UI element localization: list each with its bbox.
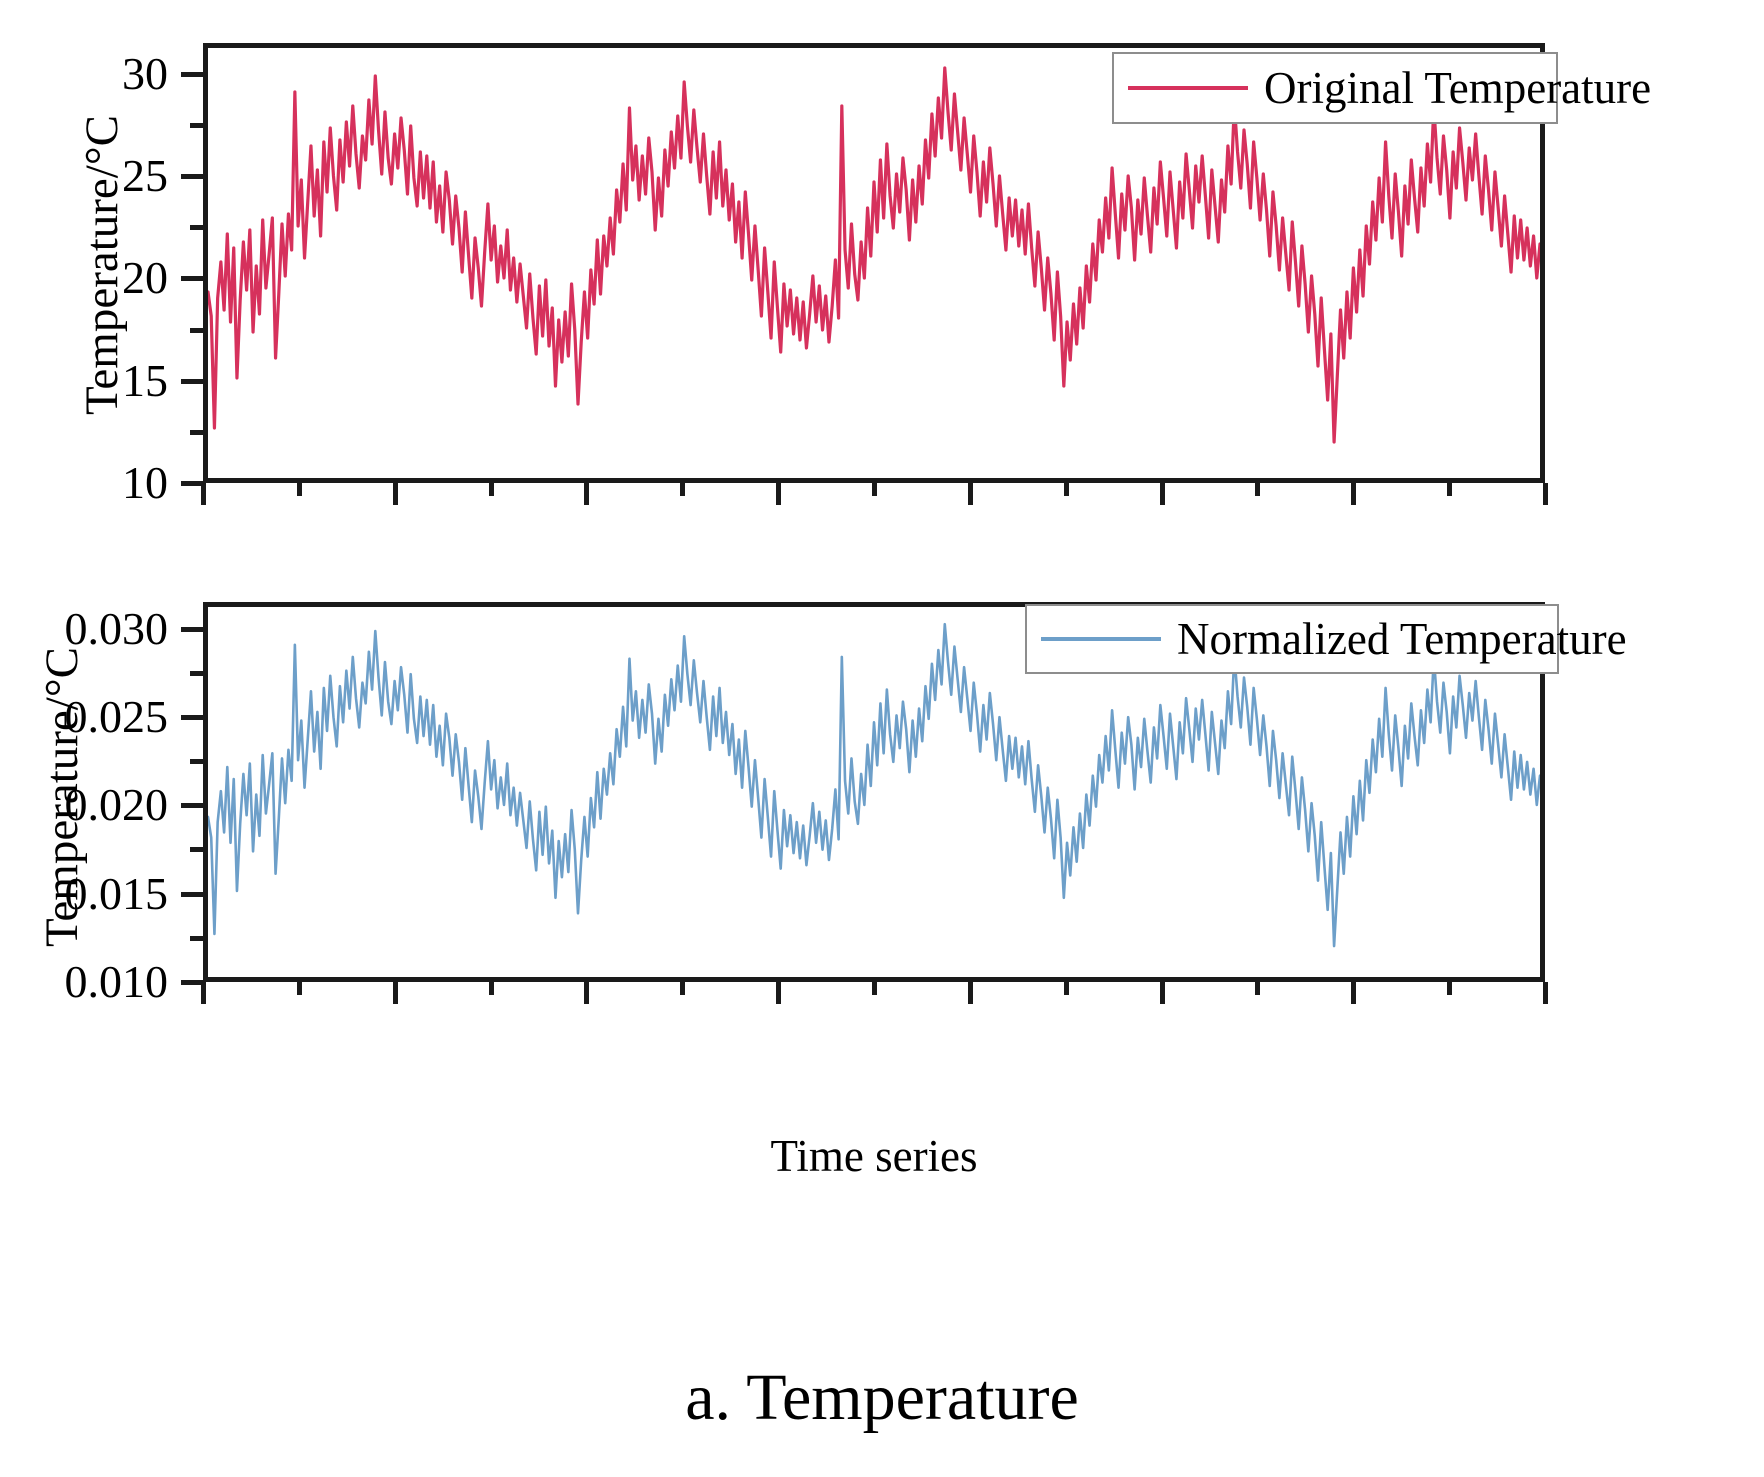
- y-tick-label-normalized-1: 0.025: [0, 694, 168, 740]
- x-tick-minor-normalized-2: [680, 982, 685, 995]
- x-tick-major-original-0: [201, 483, 206, 505]
- x-tick-major-original-2: [584, 483, 589, 505]
- y-tick-label-normalized-0: 0.030: [0, 606, 168, 652]
- y-tick-minor-original-1: [190, 225, 203, 230]
- x-tick-minor-original-6: [1447, 483, 1452, 496]
- x-tick-major-normalized-6: [1351, 982, 1356, 1004]
- x-tick-major-original-4: [968, 483, 973, 505]
- y-tick-label-original-4: 10: [38, 460, 168, 506]
- y-tick-minor-normalized-3: [190, 936, 203, 941]
- y-tick-label-original-2: 20: [38, 255, 168, 301]
- figure-caption: a. Temperature: [0, 1360, 1764, 1436]
- y-tick-label-original-0: 30: [38, 51, 168, 97]
- x-tick-major-normalized-1: [393, 982, 398, 1004]
- x-tick-minor-original-1: [489, 483, 494, 496]
- x-tick-major-original-3: [776, 483, 781, 505]
- x-tick-major-normalized-3: [776, 982, 781, 1004]
- y-tick-label-original-1: 25: [38, 153, 168, 199]
- x-tick-minor-original-2: [680, 483, 685, 496]
- y-tick-label-original-3: 15: [38, 358, 168, 404]
- x-tick-minor-original-0: [297, 483, 302, 496]
- y-tick-major-original-3: [181, 379, 203, 384]
- x-tick-minor-original-5: [1255, 483, 1260, 496]
- legend-swatch-normalized: [1041, 637, 1161, 641]
- legend-swatch-original: [1128, 86, 1248, 90]
- x-tick-minor-original-3: [872, 483, 877, 496]
- y-tick-minor-normalized-1: [190, 759, 203, 764]
- y-tick-major-normalized-1: [181, 715, 203, 720]
- y-tick-major-original-1: [181, 174, 203, 179]
- y-tick-minor-original-0: [190, 123, 203, 128]
- legend-normalized[interactable]: Normalized Temperature: [1025, 604, 1559, 674]
- y-tick-major-original-4: [181, 481, 203, 486]
- x-tick-minor-normalized-0: [297, 982, 302, 995]
- y-tick-label-normalized-3: 0.015: [0, 871, 168, 917]
- x-tick-minor-normalized-4: [1064, 982, 1069, 995]
- figure-temperature: Temperature/°C Original Temperature Temp…: [0, 0, 1764, 1477]
- y-tick-minor-original-2: [190, 328, 203, 333]
- x-tick-major-normalized-7: [1543, 982, 1548, 1004]
- y-tick-minor-normalized-2: [190, 847, 203, 852]
- x-tick-major-original-1: [393, 483, 398, 505]
- legend-original[interactable]: Original Temperature: [1112, 52, 1558, 124]
- y-tick-major-normalized-4: [181, 980, 203, 985]
- y-tick-major-normalized-0: [181, 627, 203, 632]
- x-tick-major-original-6: [1351, 483, 1356, 505]
- y-tick-label-normalized-4: 0.010: [0, 959, 168, 1005]
- y-tick-major-original-0: [181, 72, 203, 77]
- x-tick-major-normalized-2: [584, 982, 589, 1004]
- y-tick-minor-original-3: [190, 430, 203, 435]
- x-tick-major-normalized-5: [1160, 982, 1165, 1004]
- legend-label-normalized: Normalized Temperature: [1177, 613, 1627, 665]
- y-tick-major-original-2: [181, 276, 203, 281]
- x-tick-major-original-5: [1160, 483, 1165, 505]
- y-tick-major-normalized-2: [181, 803, 203, 808]
- x-tick-minor-normalized-1: [489, 982, 494, 995]
- y-tick-minor-normalized-0: [190, 671, 203, 676]
- x-axis-label: Time series: [203, 1130, 1545, 1182]
- x-tick-minor-normalized-5: [1255, 982, 1260, 995]
- legend-label-original: Original Temperature: [1264, 62, 1651, 114]
- x-tick-major-normalized-4: [968, 982, 973, 1004]
- y-tick-label-normalized-2: 0.020: [0, 782, 168, 828]
- x-tick-minor-original-4: [1064, 483, 1069, 496]
- y-tick-major-normalized-3: [181, 892, 203, 897]
- x-tick-major-original-7: [1543, 483, 1548, 505]
- x-tick-minor-normalized-3: [872, 982, 877, 995]
- x-tick-minor-normalized-6: [1447, 982, 1452, 995]
- x-tick-major-normalized-0: [201, 982, 206, 1004]
